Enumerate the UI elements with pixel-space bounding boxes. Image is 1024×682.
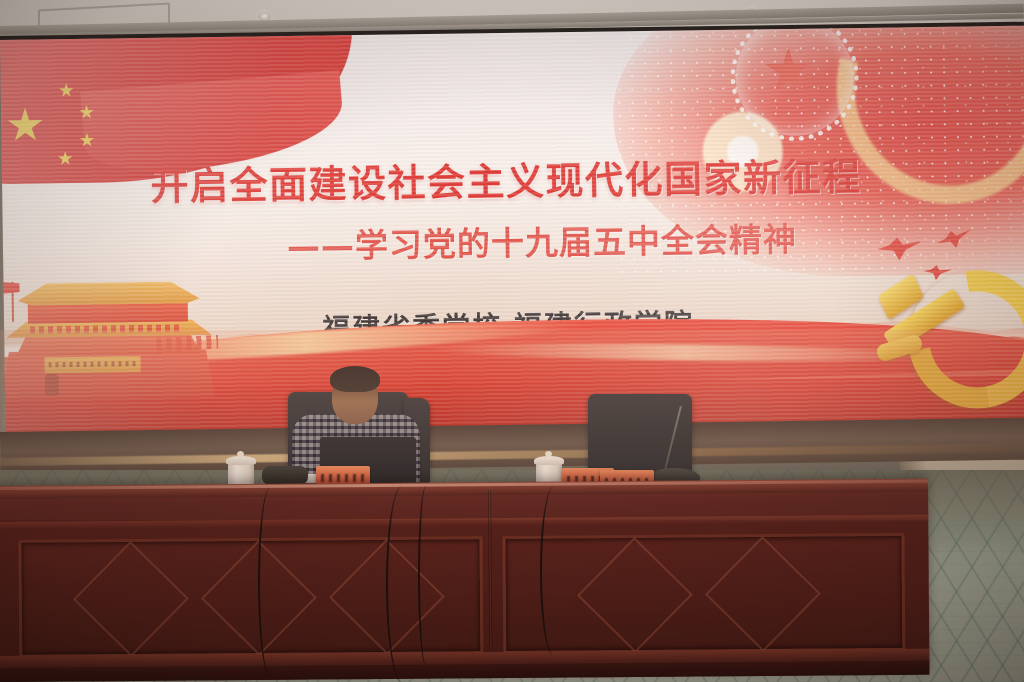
gate-arch — [45, 373, 59, 395]
speaker-podium — [0, 479, 930, 682]
podium-rail — [0, 515, 928, 529]
lecture-hall-photo: 开启全面建设社会主义现代化国家新征程 ——学习党的十九届五中全会精神 福建省委党… — [0, 0, 1024, 682]
gate-flag-row — [156, 335, 218, 354]
banner-title-block: 开启全面建设社会主义现代化国家新征程 ——学习党的十九届五中全会精神 — [0, 144, 1019, 272]
cable — [540, 486, 568, 656]
gate-plaque — [44, 356, 140, 373]
panel-diamond — [705, 536, 821, 652]
banner-surface: 开启全面建设社会主义现代化国家新征程 ——学习党的十九届五中全会精神 福建省委党… — [0, 26, 1024, 440]
teacup-left-lid — [226, 456, 256, 465]
cable — [258, 488, 282, 676]
desk-equipment — [262, 466, 308, 485]
gate-upper-roof — [17, 281, 199, 306]
presenter-hair — [330, 366, 380, 392]
panel-diamond — [577, 537, 693, 653]
cpc-emblem-icon — [867, 262, 1019, 384]
cable — [418, 486, 434, 666]
teacup-right-lid — [534, 456, 564, 465]
teacup-right-knob — [545, 451, 552, 457]
panel-diamond — [73, 541, 189, 657]
tiananmen-gate-icon — [0, 277, 227, 400]
gate-flag-icon — [0, 282, 20, 294]
led-banner-screen: 开启全面建设社会主义现代化国家新征程 ——学习党的十九届五中全会精神 福建省委党… — [0, 22, 1024, 446]
teacup-left-knob — [237, 451, 244, 457]
cable — [386, 486, 418, 682]
